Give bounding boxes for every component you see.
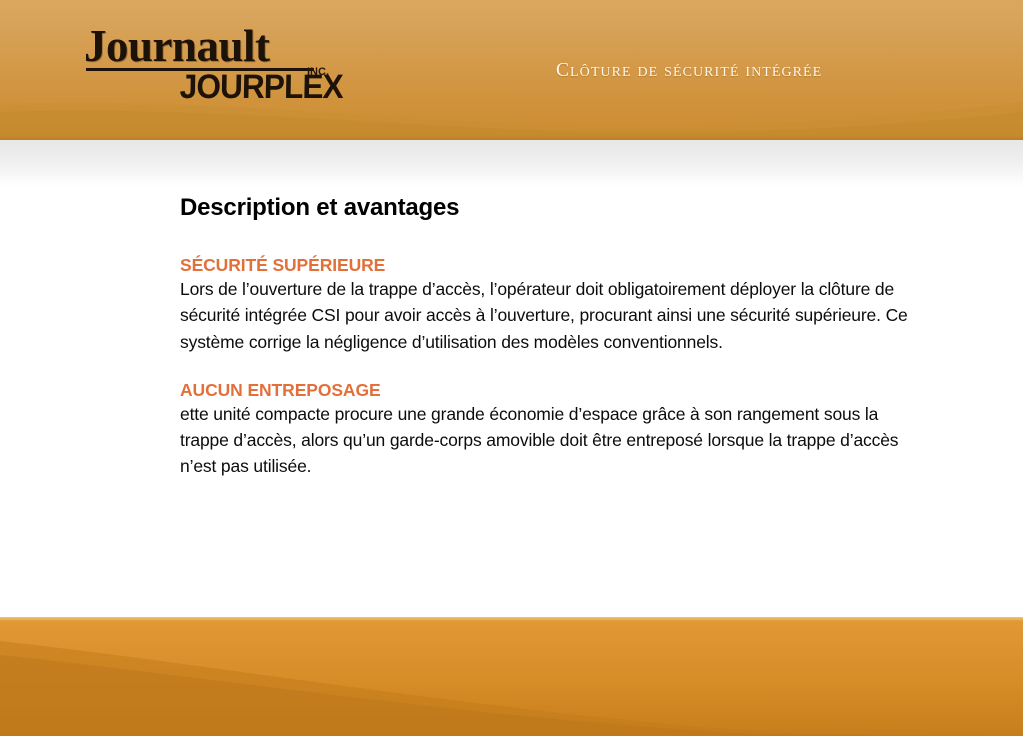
title-spacer (180, 223, 910, 254)
logo[interactable]: Journault JOURPLEX INC. (84, 26, 344, 104)
logo-wordmark-journault: Journault (84, 26, 344, 66)
header-tagline: Clôture de sécurité intégrée (556, 60, 822, 82)
slide: Journault JOURPLEX INC. Clôture de sécur… (0, 0, 1023, 736)
section-body: ette unité compacte procure une grande é… (180, 401, 910, 480)
slide-header: Journault JOURPLEX INC. Clôture de sécur… (0, 0, 1023, 140)
section-heading: SÉCURITÉ SUPÉRIEURE (180, 254, 910, 276)
header-bottom-edge (0, 137, 1023, 140)
header-swoosh-decoration (0, 98, 1023, 140)
slide-content: Description et avantages SÉCURITÉ SUPÉRI… (180, 193, 910, 480)
section-spacer (180, 355, 910, 379)
footer-swoosh-decoration (0, 617, 1023, 736)
slide-footer (0, 617, 1023, 736)
section-heading: AUCUN ENTREPOSAGE (180, 379, 910, 401)
logo-inc-suffix: INC. (307, 67, 329, 78)
section-body: Lors de l’ouverture de la trappe d’accès… (180, 276, 910, 355)
section-aucun-entreposage: AUCUN ENTREPOSAGE ette unité compacte pr… (180, 379, 910, 480)
section-securite-superieure: SÉCURITÉ SUPÉRIEURE Lors de l’ouverture … (180, 254, 910, 355)
footer-top-highlight (0, 617, 1023, 621)
page-title: Description et avantages (180, 193, 910, 223)
